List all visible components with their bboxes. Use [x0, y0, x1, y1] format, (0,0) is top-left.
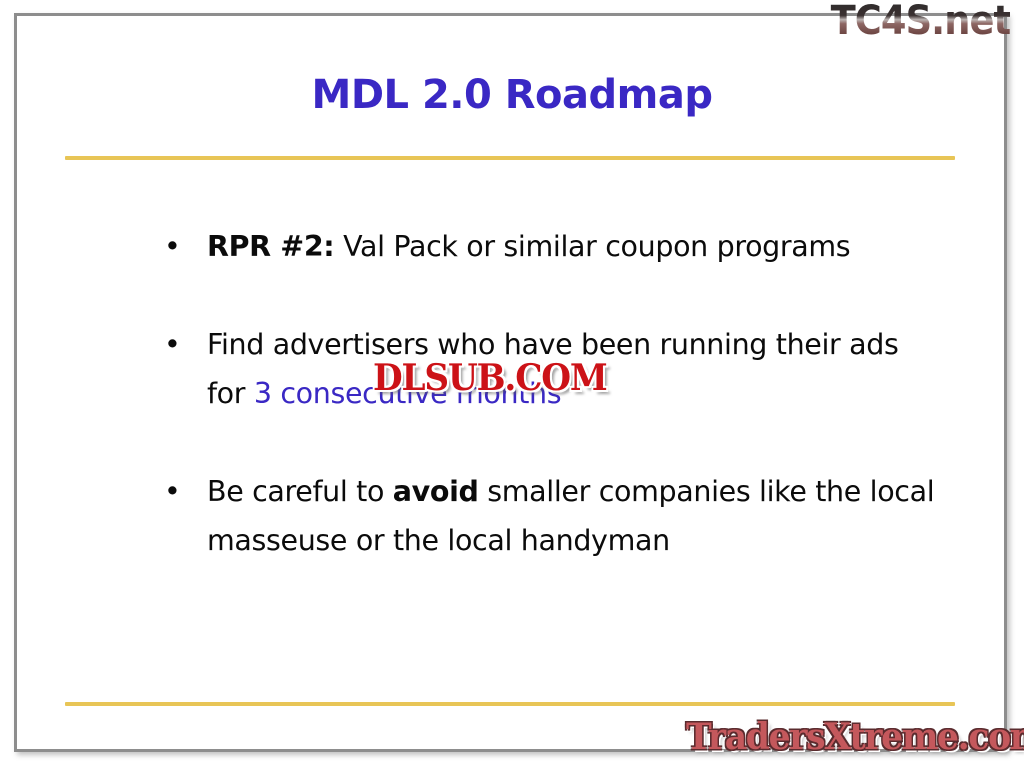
list-item-text: Be careful to avoid smaller companies li…	[207, 475, 934, 557]
page-title: MDL 2.0 Roadmap	[0, 72, 1024, 118]
bullet-dot-icon: •	[164, 467, 180, 516]
presentation-slide: MDL 2.0 Roadmap • RPR #2: Val Pack or si…	[0, 0, 1024, 768]
divider-line-bottom	[65, 702, 955, 706]
watermark-tradersxtreme: TradersXtreme.com	[686, 716, 1024, 758]
watermark-dlsub: DLSUB.COM	[373, 357, 607, 399]
list-item-segment-normal: Be careful to	[207, 475, 393, 508]
divider-line-top	[65, 156, 955, 160]
list-item-text: RPR #2: Val Pack or similar coupon progr…	[207, 230, 850, 263]
list-item-segment-bold: avoid	[393, 475, 479, 508]
list-item: • Be careful to avoid smaller companies …	[155, 467, 945, 565]
list-item-segment-normal: Val Pack or similar coupon programs	[334, 230, 850, 263]
bullet-dot-icon: •	[164, 320, 180, 369]
list-item-segment-bold: RPR #2:	[207, 230, 334, 263]
list-item: • RPR #2: Val Pack or similar coupon pro…	[155, 222, 945, 271]
watermark-tc4s: TC4S.net	[830, 0, 1010, 44]
bullet-dot-icon: •	[164, 222, 180, 271]
